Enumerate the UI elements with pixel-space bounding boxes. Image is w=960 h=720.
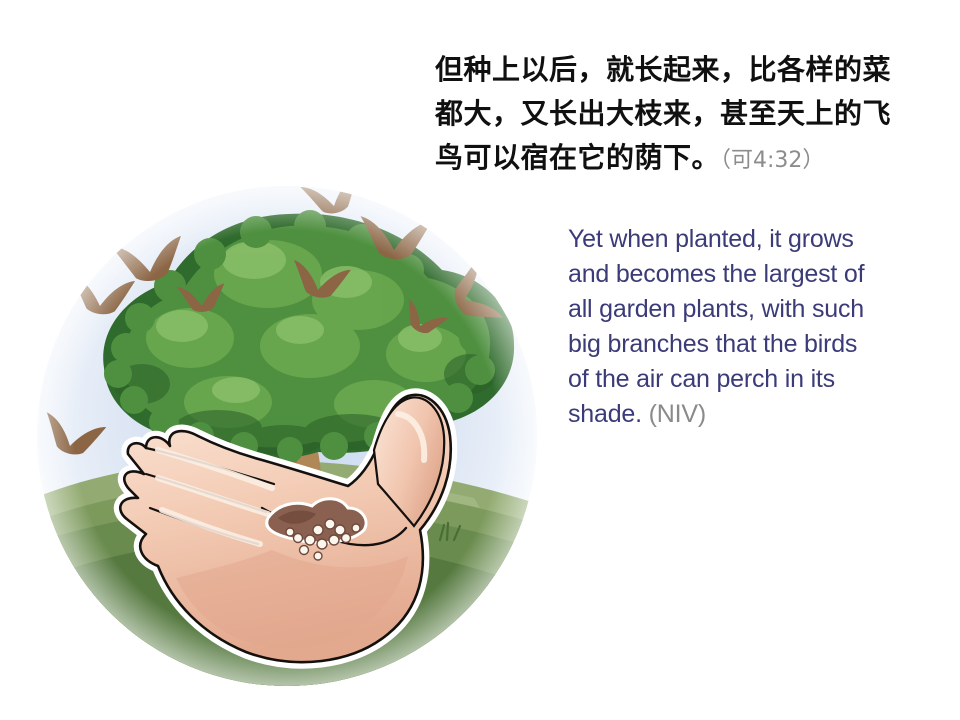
english-verse-line-3: all garden plants, with such — [568, 292, 918, 327]
english-verse-line-1: Yet when planted, it grows — [568, 222, 918, 257]
illustration-svg — [22, 178, 552, 698]
chinese-verse-line-1: 但种上以后，就长起来，比各样的菜 — [435, 48, 905, 92]
chinese-verse-reference: （可4:32） — [720, 148, 824, 173]
english-verse-line-4: big branches that the birds — [568, 327, 918, 362]
english-verse-block: Yet when planted, it grows and becomes t… — [568, 222, 918, 432]
slide-canvas: 但种上以后，就长起来，比各样的菜 都大，又长出大枝来，甚至天上的飞 鸟可以宿在它… — [0, 0, 960, 720]
chinese-verse-line-3: 鸟可以宿在它的荫下。 — [435, 141, 720, 174]
english-verse-line-5: of the air can perch in its — [568, 362, 918, 397]
english-verse-reference: (NIV) — [642, 400, 706, 428]
english-verse-line-6: shade. — [568, 400, 642, 428]
chinese-verse-line-2: 都大，又长出大枝来，甚至天上的飞 — [435, 92, 905, 136]
chinese-verse-block: 但种上以后，就长起来，比各样的菜 都大，又长出大枝来，甚至天上的飞 鸟可以宿在它… — [435, 48, 905, 183]
english-verse-line-6-wrap: shade. (NIV) — [568, 397, 918, 432]
english-verse-line-2: and becomes the largest of — [568, 257, 918, 292]
mustard-seed-illustration — [22, 178, 552, 698]
chinese-verse-line-3-wrap: 鸟可以宿在它的荫下。（可4:32） — [435, 136, 905, 183]
